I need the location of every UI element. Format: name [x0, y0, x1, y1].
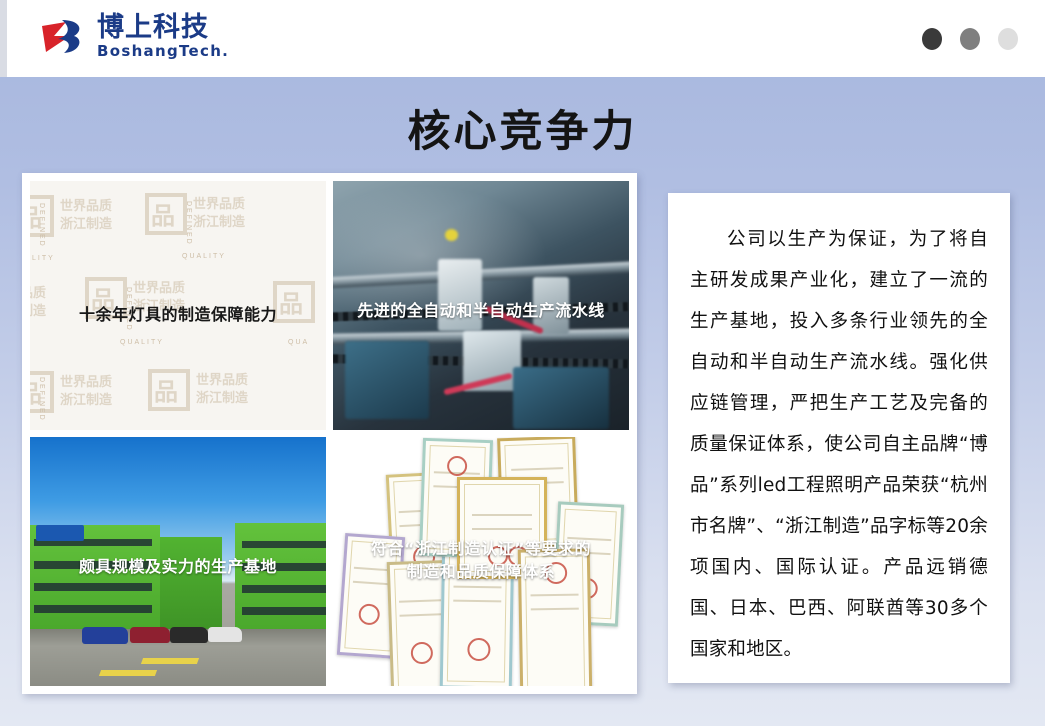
collage-caption-certificates: 符合“浙江制造认证”等要求的 制造和品质保障体系 [333, 537, 629, 583]
header-dots [922, 28, 1018, 50]
collage-caption-production-line: 先进的全自动和半自动生产流水线 [333, 299, 629, 322]
dot-light-icon [998, 28, 1018, 50]
certificates-caption-line2: 制造和品质保障体系 [333, 560, 629, 583]
dot-dark-icon [922, 28, 942, 50]
collage-caption-production-base: 颇具规模及实力的生产基地 [30, 555, 326, 578]
description-panel: 公司以生产为保证，为了将自主研发成果产业化，建立了一流的生产基地，投入多条行业领… [668, 193, 1010, 683]
collage-grid: 世界品质浙江制造 DEFINED LITY 世界品质浙江制造 DEFINED Q… [30, 181, 629, 686]
dot-mid-icon [960, 28, 980, 50]
page-title: 核心竞争力 [0, 97, 1045, 159]
image-collage-card: 世界品质浙江制造 DEFINED LITY 世界品质浙江制造 DEFINED Q… [22, 173, 637, 694]
collage-cell-production-line[interactable]: 先进的全自动和半自动生产流水线 [333, 181, 629, 430]
logo-name-en: BoshangTech. [97, 44, 229, 59]
collage-cell-production-base[interactable]: 颇具规模及实力的生产基地 [30, 437, 326, 686]
logo-name-cn: 博上科技 [97, 14, 229, 41]
collage-cell-quality-backdrop[interactable]: 世界品质浙江制造 DEFINED LITY 世界品质浙江制造 DEFINED Q… [30, 181, 326, 430]
logo-text-block: 博上科技 BoshangTech. [97, 14, 229, 59]
certificates-caption-line1: 符合“浙江制造认证”等要求的 [333, 537, 629, 560]
slide-header: 博上科技 BoshangTech. [0, 0, 1045, 77]
slide-page: 博上科技 BoshangTech. 核心竞争力 世界品质浙江制造 DEFINED [0, 0, 1045, 726]
collage-cell-certificates[interactable]: 符合“浙江制造认证”等要求的 制造和品质保障体系 [333, 437, 629, 686]
description-paragraph: 公司以生产为保证，为了将自主研发成果产业化，建立了一流的生产基地，投入多条行业领… [690, 219, 988, 670]
building-sign [36, 525, 84, 541]
company-logo[interactable]: 博上科技 BoshangTech. [40, 12, 229, 60]
boshang-logo-icon [40, 12, 88, 60]
collage-caption-quality-backdrop: 十余年灯具的制造保障能力 [30, 303, 326, 326]
